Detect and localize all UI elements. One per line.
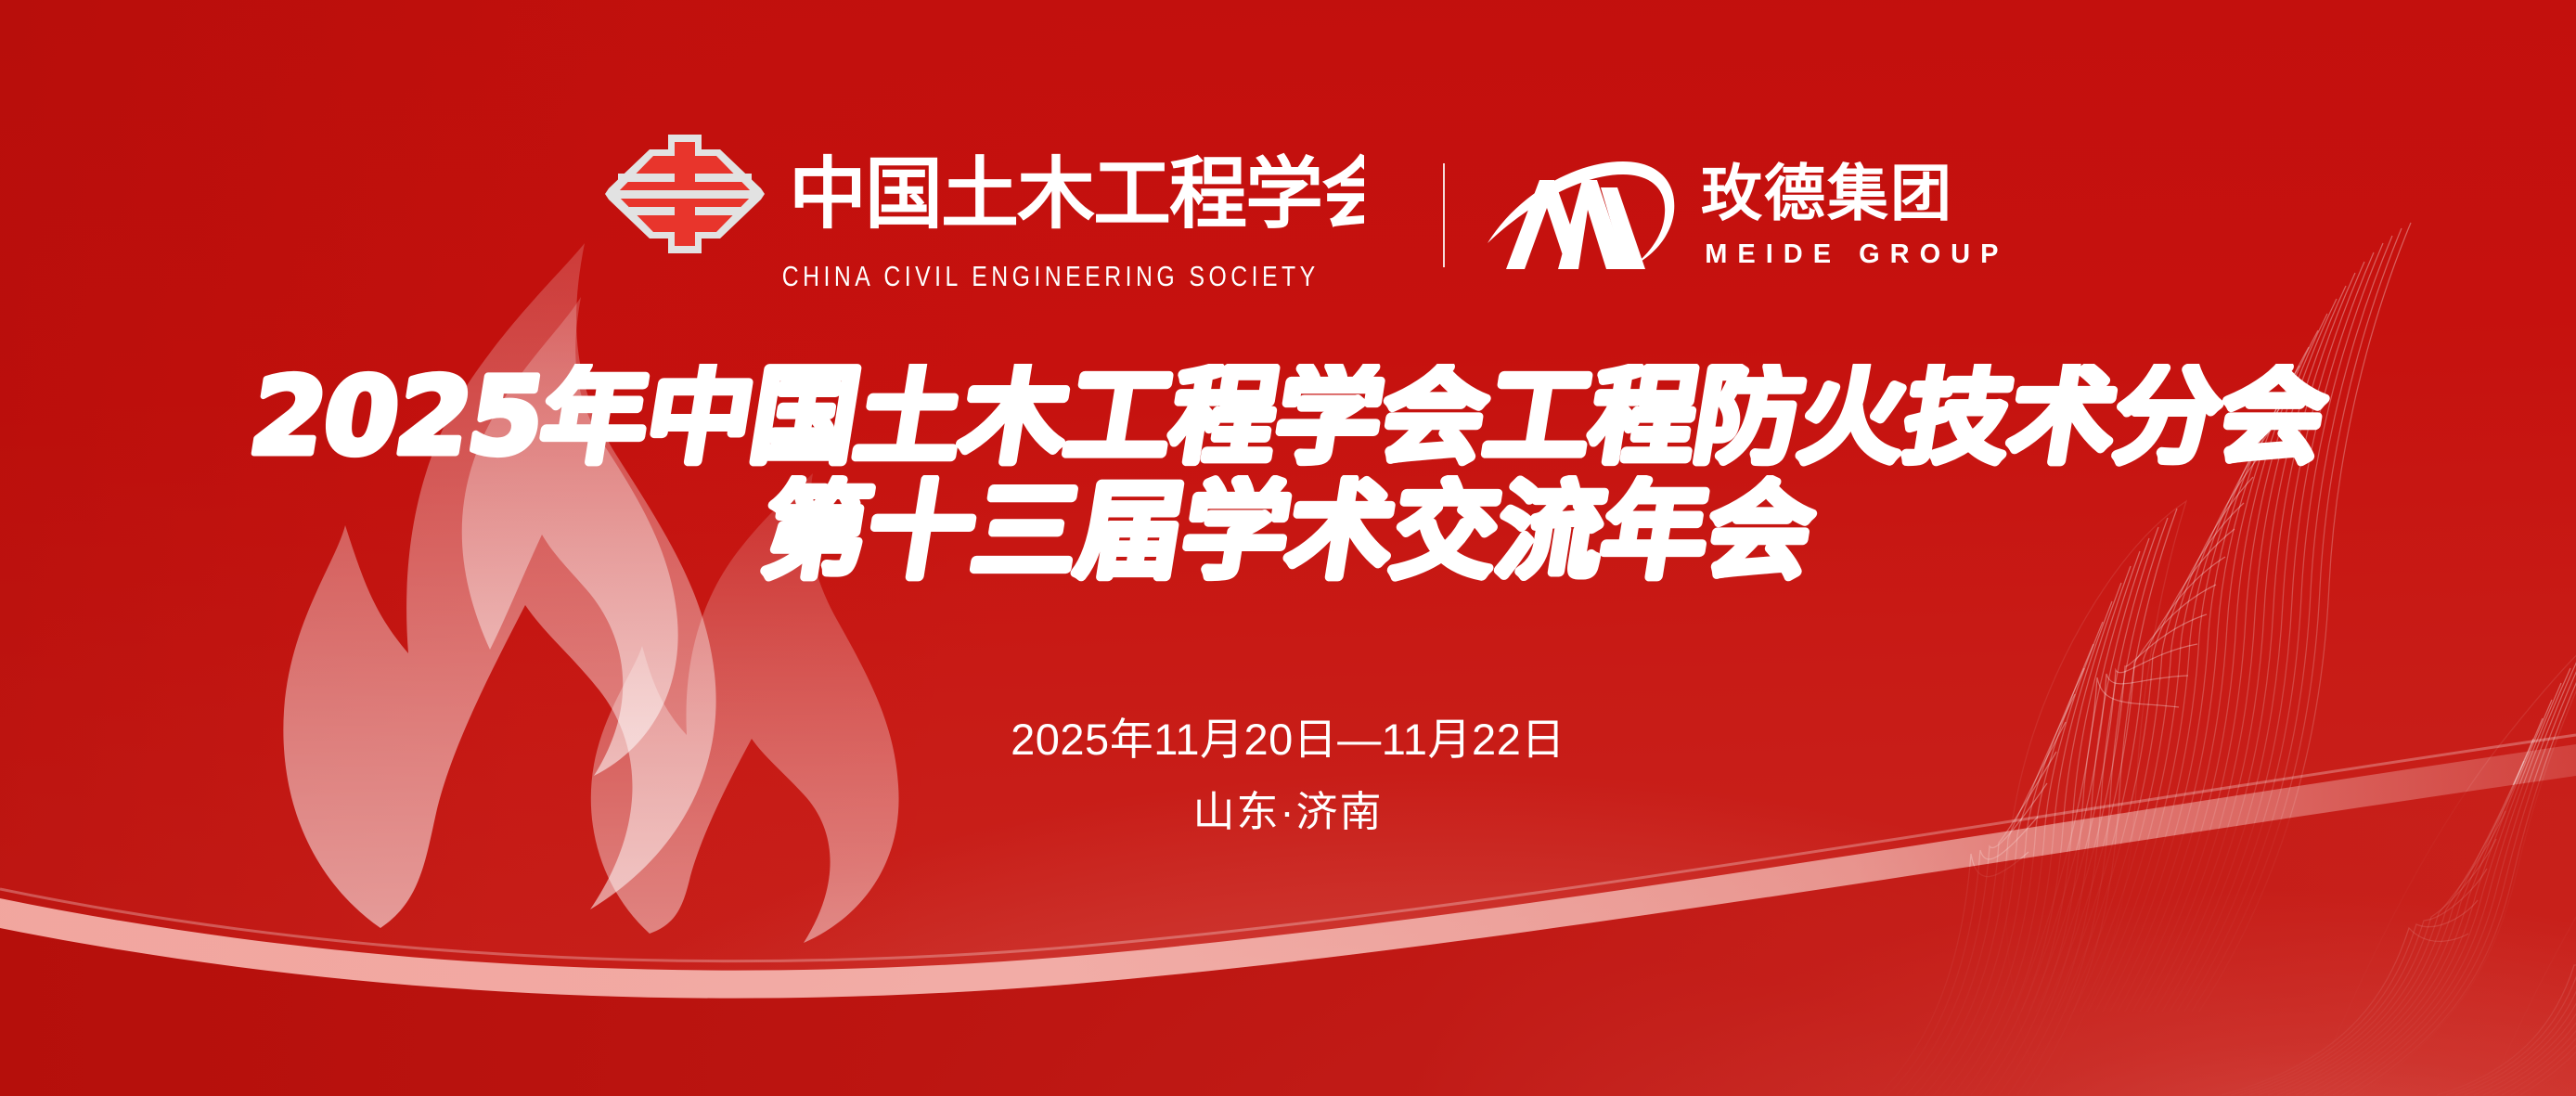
main-title: 2025年中国土木工程学会工程防火技术分会 第十三届学术交流年会 <box>0 364 2576 591</box>
title-line-1: 2025年中国土木工程学会工程防火技术分会 <box>0 364 2576 475</box>
meide-m-swoosh-mark <box>1486 154 1679 273</box>
meide-name-en: MEIDE GROUP <box>1701 239 2008 270</box>
cces-name-cn-text: 中国土木工程学会 <box>789 148 1364 239</box>
cces-name-cn: 中国土木工程学会 <box>789 143 1364 245</box>
cces-top-row: 中国土木工程学会 <box>605 133 1364 255</box>
title-line-2-text: 第十三届学术交流年会 <box>754 475 1823 591</box>
meide-words: 玫德集团 MEIDE GROUP <box>1701 157 2008 270</box>
cces-diamond-emblem <box>605 133 765 255</box>
logo-divider <box>1443 163 1445 267</box>
logo-cces: 中国土木工程学会 CHINA CIVIL ENGINEERING SOCIETY <box>568 133 1403 293</box>
meide-name-cn-text: 玫德集团 <box>1701 158 1953 229</box>
logo-meide: 玫德集团 MEIDE GROUP <box>1486 154 2008 273</box>
logo-row: 中国土木工程学会 CHINA CIVIL ENGINEERING SOCIETY <box>0 133 2576 293</box>
title-line-1-text: 2025年中国土木工程学会工程防火技术分会 <box>242 364 2335 475</box>
event-meta: 2025年11月20日—11月22日 山东·济南 <box>0 713 2576 838</box>
meide-name-cn: 玫德集团 <box>1701 157 2007 231</box>
event-location: 山东·济南 <box>0 786 2576 838</box>
cces-name-en: CHINA CIVIL ENGINEERING SOCIETY <box>650 260 1319 293</box>
conference-banner: 中国土木工程学会 CHINA CIVIL ENGINEERING SOCIETY <box>0 0 2576 1096</box>
title-line-2: 第十三届学术交流年会 <box>0 475 2576 591</box>
event-date: 2025年11月20日—11月22日 <box>0 713 2576 767</box>
